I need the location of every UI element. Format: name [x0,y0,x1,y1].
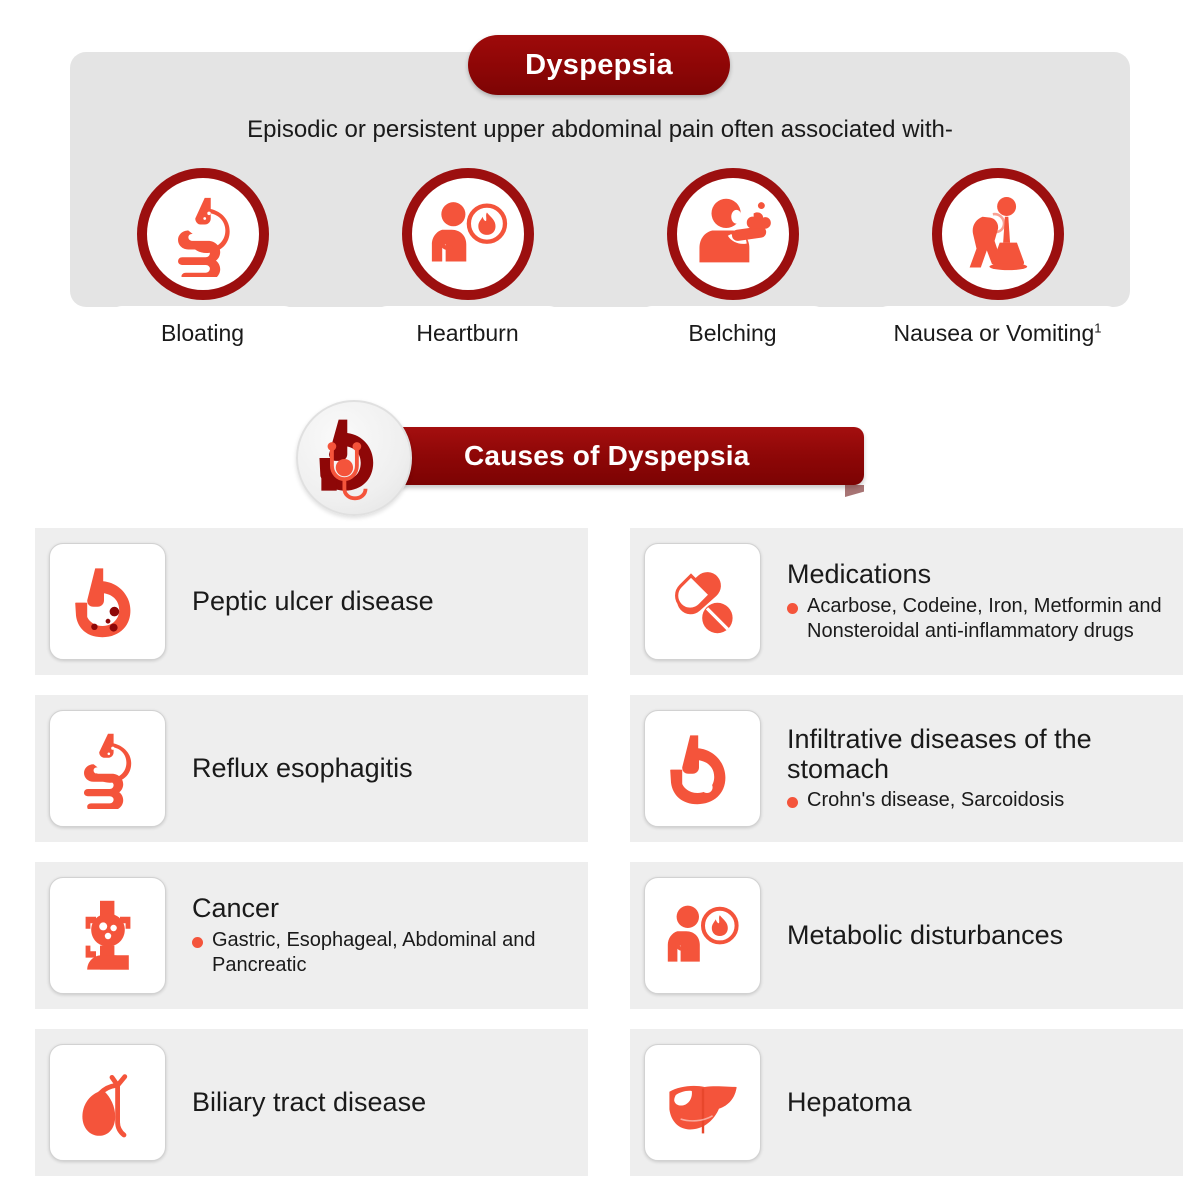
person-vomiting-icon [955,191,1041,277]
symptom-label-heartburn: Heartburn [375,306,561,357]
symptom-nausea-vomiting[interactable]: Nausea or Vomiting1 [865,168,1130,353]
cause-row[interactable]: Peptic ulcer disease [35,528,588,675]
ribbon-fold [845,485,864,497]
pills-icon [663,562,743,642]
cause-title: Hepatoma [787,1087,912,1117]
cause-subtext-wrap: Acarbose, Codeine, Iron, Metformin and N… [787,594,1173,644]
symptom-icon-circle [667,168,799,300]
cause-text: Biliary tract disease [166,1087,436,1117]
cause-row[interactable]: Biliary tract disease [35,1029,588,1176]
cause-row[interactable]: Infiltrative diseases of the stomach Cro… [630,695,1183,842]
causes-banner-ribbon: Causes of Dyspepsia [352,427,864,485]
cause-icon-tile [49,543,166,660]
symptom-label-bloating: Bloating [110,306,296,357]
symptom-label-belching: Belching [640,306,826,357]
person-flame-icon [425,191,511,277]
cause-icon-tile [644,1044,761,1161]
stomach-reflux-icon [68,729,148,809]
symptoms-list: Bloating Heartburn [70,168,1130,353]
cause-row[interactable]: Cancer Gastric, Esophageal, Abdominal an… [35,862,588,1009]
cause-title: Peptic ulcer disease [192,586,434,616]
cause-row[interactable]: Hepatoma [630,1029,1183,1176]
cause-text: Reflux esophagitis [166,753,423,783]
cause-text: Peptic ulcer disease [166,586,444,616]
cause-text: Medications Acarbose, Codeine, Iron, Met… [761,559,1183,643]
cause-subtext: Acarbose, Codeine, Iron, Metformin and N… [807,594,1173,644]
footnote-marker: 1 [1094,320,1101,335]
cause-icon-tile [644,543,761,660]
page-title-pill: Dyspepsia [468,35,730,95]
cause-title: Biliary tract disease [192,1087,426,1117]
cause-subtext-wrap: Gastric, Esophageal, Abdominal and Pancr… [192,928,578,978]
stomach-plain-icon [663,729,743,809]
symptom-heartburn[interactable]: Heartburn [335,168,600,353]
causes-grid: Peptic ulcer disease Medications Acarbos… [35,528,1183,1176]
symptom-bloating[interactable]: Bloating [70,168,335,353]
cause-title: Infiltrative diseases of the stomach [787,724,1173,784]
cause-icon-tile [644,877,761,994]
cause-row[interactable]: Medications Acarbose, Codeine, Iron, Met… [630,528,1183,675]
symptom-belching[interactable]: Belching [600,168,865,353]
person-burp-icon [690,191,776,277]
cause-icon-tile [49,1044,166,1161]
cause-row[interactable]: Metabolic disturbances [630,862,1183,1009]
stomach-ulcer-icon [68,562,148,642]
cancer-cell-icon [68,896,148,976]
stomach-intestine-icon [160,191,246,277]
cause-title: Cancer [192,893,578,923]
symptom-icon-circle [932,168,1064,300]
cause-text: Metabolic disturbances [761,920,1073,950]
cause-text: Hepatoma [761,1087,922,1117]
cause-subtext: Gastric, Esophageal, Abdominal and Pancr… [212,928,578,978]
bullet-icon [192,937,203,948]
page-title: Dyspepsia [525,49,673,82]
subtitle-text: Episodic or persistent upper abdominal p… [0,116,1200,144]
bullet-icon [787,603,798,614]
stomach-stethoscope-icon [306,410,402,506]
symptom-label-nausea-vomiting: Nausea or Vomiting1 [876,306,1120,357]
causes-banner-title: Causes of Dyspepsia [464,440,749,472]
causes-banner: Causes of Dyspepsia [0,400,1200,510]
gallbladder-icon [68,1063,148,1143]
causes-banner-badge [296,400,412,516]
symptom-icon-circle [137,168,269,300]
cause-icon-tile [644,710,761,827]
cause-title: Medications [787,559,1173,589]
liver-icon [663,1063,743,1143]
symptom-icon-circle [402,168,534,300]
cause-subtext: Crohn's disease, Sarcoidosis [807,788,1064,813]
cause-text: Cancer Gastric, Esophageal, Abdominal an… [166,893,588,977]
cause-icon-tile [49,710,166,827]
person-flame-icon [663,896,743,976]
cause-icon-tile [49,877,166,994]
cause-title: Metabolic disturbances [787,920,1063,950]
cause-text: Infiltrative diseases of the stomach Cro… [761,724,1183,813]
cause-row[interactable]: Reflux esophagitis [35,695,588,842]
cause-subtext-wrap: Crohn's disease, Sarcoidosis [787,788,1173,813]
cause-title: Reflux esophagitis [192,753,413,783]
bullet-icon [787,797,798,808]
